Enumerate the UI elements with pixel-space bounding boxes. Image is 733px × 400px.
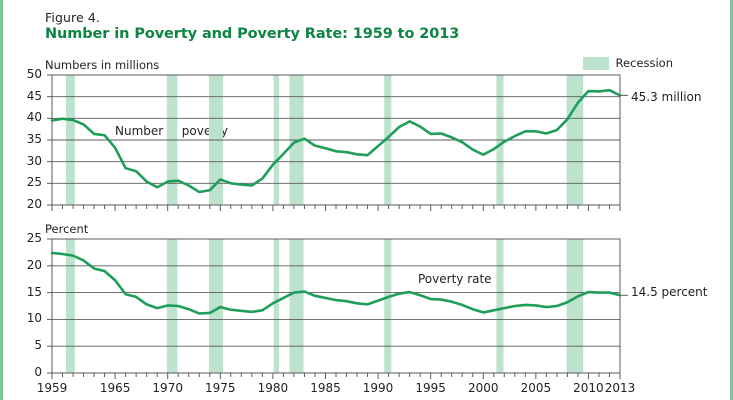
y-axis-tick-label: 50 [16,67,42,81]
recession-band [496,239,503,373]
y-axis-tick-label: 0 [16,365,42,379]
y-axis-tick-label: 5 [16,338,42,352]
x-axis-tick-label: 1959 [29,381,75,395]
y-axis-tick-label: 35 [16,132,42,146]
data-series-line [52,90,620,192]
data-series-line [52,253,620,314]
x-axis-tick-label: 2005 [513,381,559,395]
x-axis-tick-label: 1985 [302,381,348,395]
x-axis-tick-label: 1990 [355,381,401,395]
y-axis-tick-label: 10 [16,311,42,325]
y-axis-tick-label: 20 [16,258,42,272]
x-axis-tick-label: 1975 [197,381,243,395]
recession-band [567,239,584,373]
y-axis-tick-label: 25 [16,231,42,245]
y-axis-tick-label: 25 [16,175,42,189]
chart-poverty-rate [47,239,628,379]
y-axis-tick-label: 20 [16,197,42,211]
x-axis-tick-label: 1970 [145,381,191,395]
y-axis-tick-label: 30 [16,154,42,168]
recession-band [290,239,304,373]
recession-band [66,239,75,373]
poverty-figure [0,0,733,400]
x-axis-tick-label: 1995 [408,381,454,395]
x-axis-tick-label: 2000 [460,381,506,395]
y-axis-tick-label: 15 [16,285,42,299]
y-axis-tick-label: 40 [16,110,42,124]
recession-band [384,239,391,373]
recession-band [274,239,279,373]
x-axis-tick-label: 2013 [597,381,643,395]
x-axis-tick-label: 1980 [250,381,296,395]
y-axis-tick-label: 45 [16,89,42,103]
chart-number-in-poverty [47,75,628,211]
x-axis-tick-label: 1965 [92,381,138,395]
